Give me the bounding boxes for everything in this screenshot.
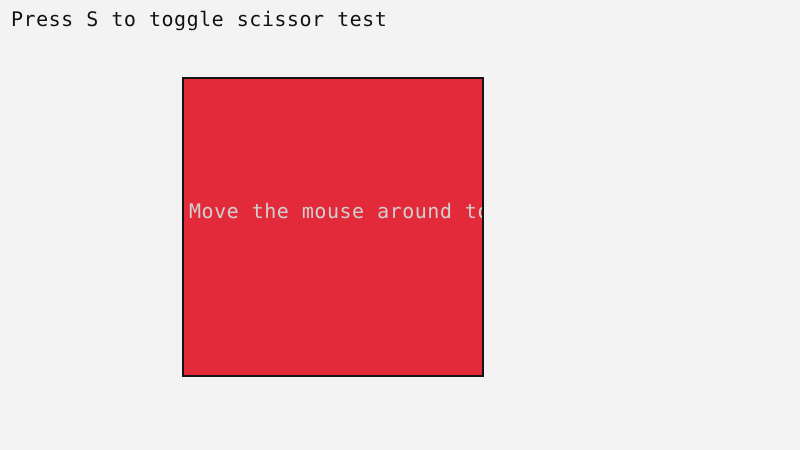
scissor-rectangle[interactable]: Move the mouse around to reveal the scis… [182, 77, 484, 377]
game-canvas[interactable]: Press S to toggle scissor test Move the … [0, 0, 800, 450]
scissor-toggle-hint: Press S to toggle scissor test [11, 6, 387, 32]
scissor-clipped-text: Move the mouse around to reveal the scis… [189, 198, 484, 224]
